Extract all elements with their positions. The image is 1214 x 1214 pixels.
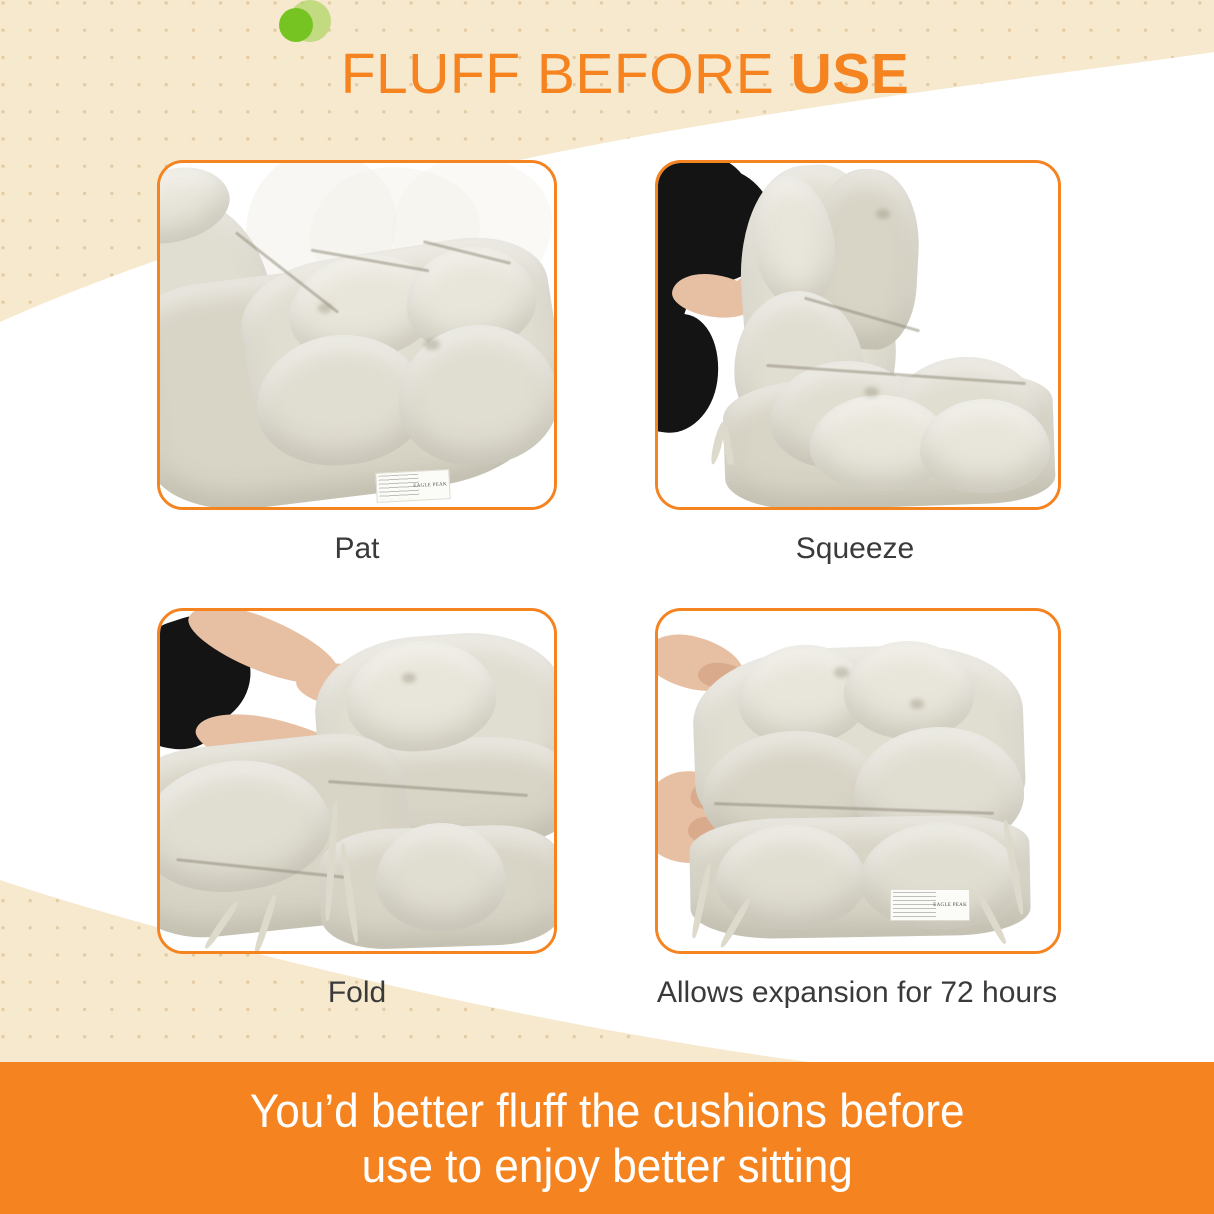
footer-line-1: You’d better fluff the cushions before — [250, 1083, 965, 1138]
step-caption-expansion: Allows expansion for 72 hours — [637, 978, 1077, 1008]
footer-banner: You’d better fluff the cushions before u… — [0, 1062, 1214, 1214]
photo-pat: EAGLE PEAK — [160, 163, 554, 507]
photo-frame-expansion: EAGLE PEAK — [655, 608, 1061, 954]
step-caption-pat: Pat — [157, 534, 557, 564]
steps-grid: EAGLE PEAK Pat — [0, 0, 1214, 1214]
footer-line-2: use to enjoy better sitting — [361, 1138, 852, 1193]
photo-frame-fold — [157, 608, 557, 954]
care-label-tag: EAGLE PEAK — [375, 469, 450, 503]
photo-squeeze — [658, 163, 1058, 507]
photo-expansion: EAGLE PEAK — [658, 611, 1058, 951]
step-caption-squeeze: Squeeze — [655, 534, 1055, 564]
care-label-tag: EAGLE PEAK — [890, 889, 970, 921]
brand-label: EAGLE PEAK — [933, 903, 969, 908]
step-caption-fold: Fold — [157, 978, 557, 1008]
infographic-page: FLUFF BEFORE USE — [0, 0, 1214, 1214]
photo-fold — [160, 611, 554, 951]
photo-frame-squeeze — [655, 160, 1061, 510]
photo-frame-pat: EAGLE PEAK — [157, 160, 557, 510]
